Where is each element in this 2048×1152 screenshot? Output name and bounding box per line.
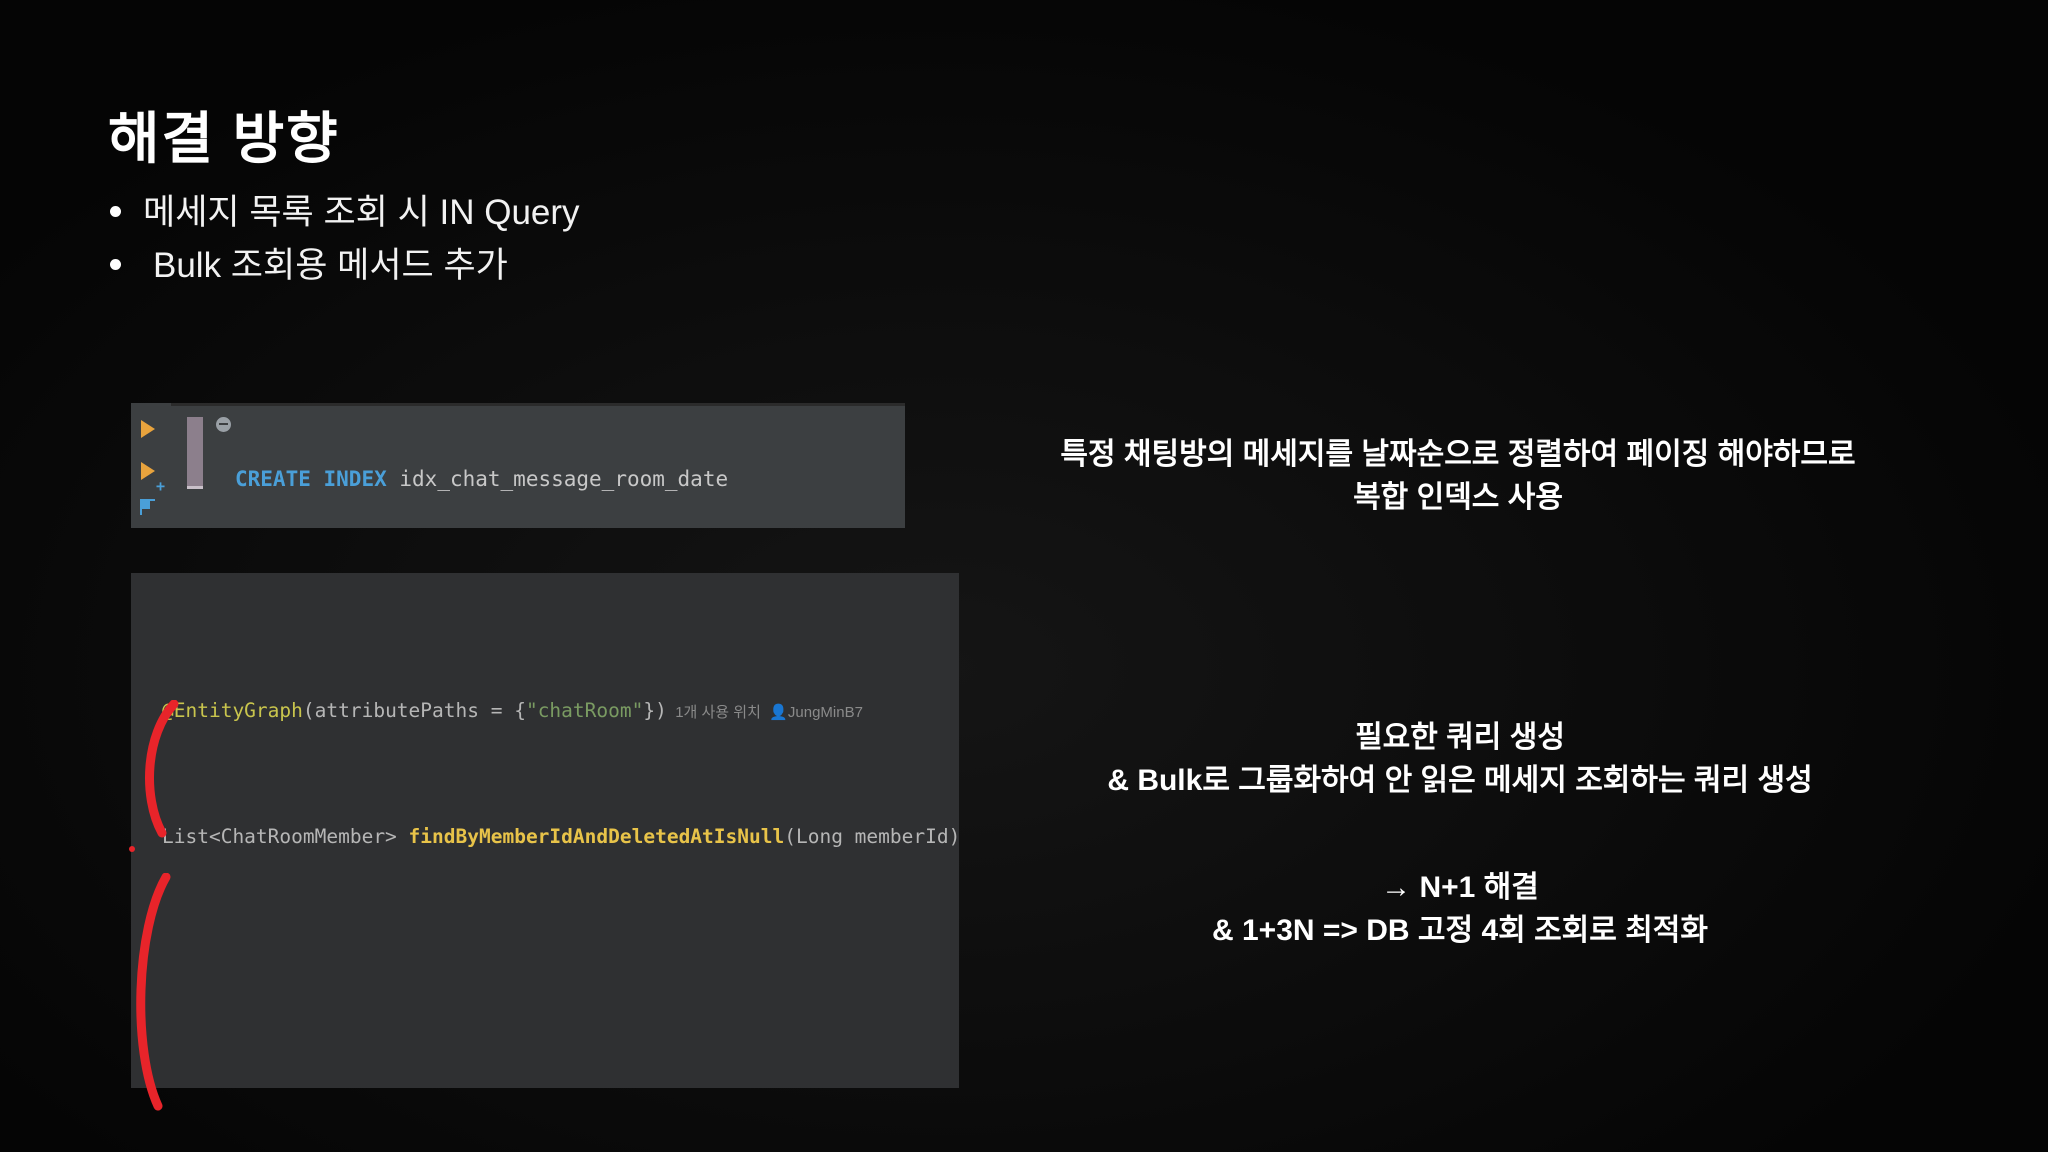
list-item: 메세지 목록 조회 시 IN Query — [110, 186, 580, 239]
caption-line: 복합 인덱스 사용 — [958, 477, 1958, 520]
code-line: @EntityGraph(attributePaths = {"chatRoom… — [162, 698, 959, 723]
code-block-repository: @EntityGraph(attributePaths = {"chatRoom… — [131, 573, 959, 1088]
author-icon: 👤 — [769, 703, 788, 721]
divider — [131, 403, 905, 406]
run-triangle-icon[interactable] — [141, 420, 155, 438]
bullet-text: 메세지 목록 조회 시 IN Query — [143, 186, 580, 239]
caption-query-generation: 필요한 쿼리 생성 & Bulk로 그룹화하여 안 읽은 메세지 조회하는 쿼리… — [980, 717, 1940, 802]
page-title: 해결 방향 — [108, 110, 340, 169]
return-type: List<ChatRoomMember> — [162, 825, 409, 848]
code-line: CREATE INDEX idx_chat_message_room_date — [235, 466, 835, 493]
bullet-dot-icon — [110, 206, 121, 217]
code-lines: CREATE INDEX idx_chat_message_room_date … — [235, 412, 835, 528]
annotation-entitygraph: @EntityGraph — [162, 699, 303, 722]
index-name: idx_chat_message_room_date — [399, 467, 728, 491]
blank-line — [162, 1000, 959, 1025]
code-lines: @EntityGraph(attributePaths = {"chatRoom… — [162, 597, 959, 1088]
code-block-create-index: + CREATE INDEX idx_chat_message_room_dat… — [131, 403, 905, 528]
list-item: Bulk 조회용 메서드 추가 — [110, 239, 580, 292]
caption-line: 특정 채팅방의 메세지를 날짜순으로 정렬하여 페이징 해야하므로 — [958, 434, 1958, 477]
caption-line: → N+1 해결 — [980, 867, 1940, 910]
editor-gutter: + — [131, 403, 171, 528]
caption-line: & Bulk로 그룹화하여 안 읽은 메세지 조회하는 쿼리 생성 — [980, 760, 1940, 803]
caption-composite-index: 특정 채팅방의 메세지를 날짜순으로 정렬하여 페이징 해야하므로 복합 인덱스… — [958, 434, 1958, 519]
method-params: (Long memberId) — [784, 825, 959, 848]
author-name: JungMinB7 — [788, 704, 863, 721]
blank-line — [162, 925, 959, 950]
annotation-args-open: (attributePaths = { — [303, 699, 526, 722]
bookmark-flag-icon[interactable] — [140, 499, 155, 515]
caption-line: & 1+3N => DB 고정 4회 조회로 최적화 — [980, 910, 1940, 953]
slide-root: 해결 방향 메세지 목록 조회 시 IN Query Bulk 조회용 메서드 … — [0, 0, 2048, 1152]
code-line: List<ChatRoomMember> findByMemberIdAndDe… — [162, 824, 959, 849]
caption-line: 필요한 쿼리 생성 — [980, 717, 1940, 760]
kw-index: INDEX — [324, 467, 387, 491]
annotation-args-close: }) — [643, 699, 666, 722]
bookmark-stripe — [187, 417, 203, 489]
bullet-list: 메세지 목록 조회 시 IN Query Bulk 조회용 메서드 추가 — [110, 186, 580, 292]
plus-badge-icon: + — [156, 473, 165, 500]
usage-hint[interactable]: 1개 사용 위치 — [675, 704, 761, 721]
annotation-value: "chatRoom" — [526, 699, 643, 722]
bullet-dot-icon — [110, 259, 121, 270]
collapse-circle-icon[interactable] — [216, 417, 231, 432]
bullet-text: Bulk 조회용 메서드 추가 — [153, 239, 508, 292]
method-name: findByMemberIdAndDeletedAtIsNull — [409, 825, 785, 848]
kw-create: CREATE — [235, 467, 311, 491]
run-with-plus-icon[interactable] — [141, 462, 155, 480]
caption-n-plus-one-result: → N+1 해결 & 1+3N => DB 고정 4회 조회로 최적화 — [980, 867, 1940, 952]
